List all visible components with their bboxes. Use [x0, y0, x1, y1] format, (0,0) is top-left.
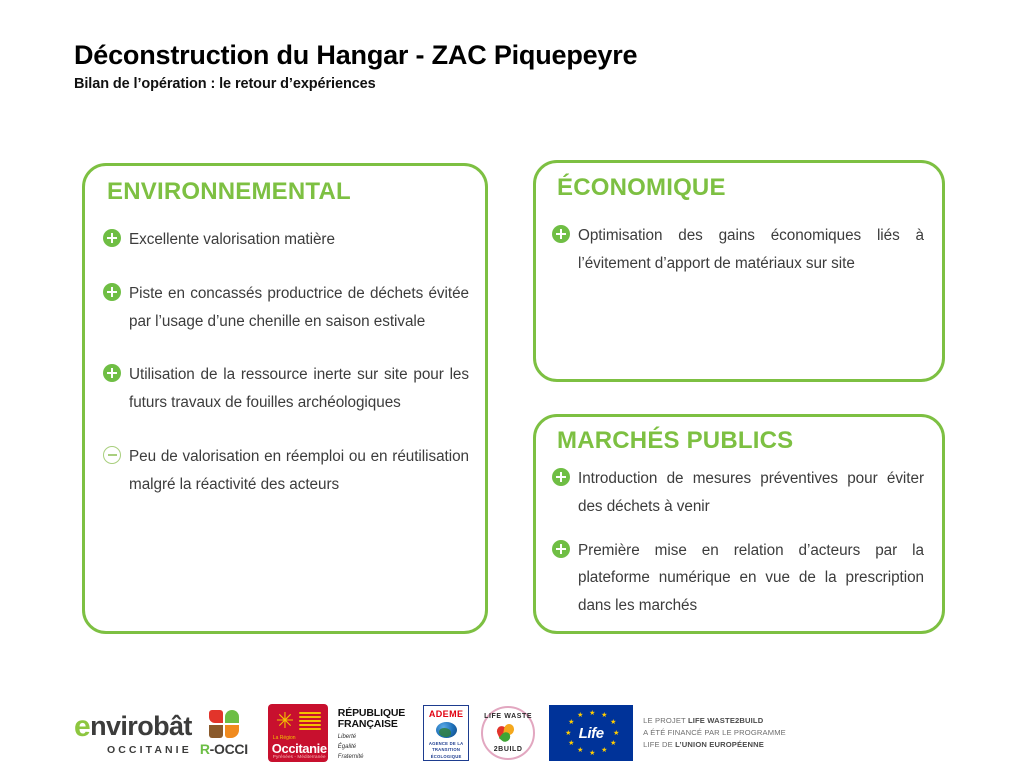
rf-motto-fraternite: Fraternité	[338, 753, 405, 761]
envirobat-region-label: OCCITANIE	[74, 744, 192, 756]
rf-motto-liberte: Liberté	[338, 733, 405, 741]
eu-star-icon: ★	[613, 730, 619, 737]
r-occi-logo: R-OCCI	[200, 707, 248, 759]
list-item: Optimisation des gains économiques liés …	[536, 222, 942, 278]
eu-star-icon: ★	[610, 719, 616, 726]
r-occi-suffix: -OCCI	[210, 741, 248, 757]
ademe-wordmark: ADEME	[429, 709, 464, 719]
eu-funding-line2: A ÉTÉ FINANCÉ PAR LE PROGRAMME	[643, 727, 786, 739]
list-item: Utilisation de la ressource inerte sur s…	[85, 361, 485, 417]
list-item-text: Première mise en relation d’acteurs par …	[578, 537, 924, 620]
list-item-text: Piste en concassés productrice de déchet…	[129, 280, 469, 336]
waste2build-leaves-icon	[497, 724, 519, 742]
eu-star-icon: ★	[568, 740, 574, 747]
rocci-square-green	[225, 710, 239, 723]
plus-circle-icon	[103, 229, 121, 247]
eu-funding-line1: LE PROJET LIFE WASTE2BUILD	[643, 715, 786, 727]
rocci-square-orange	[225, 725, 239, 738]
bullet-list-environnemental: Excellente valorisation matière Piste en…	[85, 226, 485, 499]
waste2build-top-text: LIFE WASTE	[483, 713, 533, 720]
eu-star-icon: ★	[577, 712, 583, 719]
card-economique: ÉCONOMIQUE Optimisation des gains économ…	[533, 160, 945, 382]
page-title: Déconstruction du Hangar - ZAC Piquepeyr…	[74, 40, 954, 70]
life-wordmark: Life	[579, 725, 604, 742]
list-item: Première mise en relation d’acteurs par …	[536, 537, 942, 620]
list-item-text: Optimisation des gains économiques liés …	[578, 222, 924, 278]
occitanie-lines-icon	[299, 712, 321, 734]
bullet-list-economique: Optimisation des gains économiques liés …	[536, 222, 942, 278]
list-item-text: Excellente valorisation matière	[129, 226, 469, 254]
footer-logo-bar: e nvirobât OCCITANIE R-OCCI ✳ La Région …	[74, 702, 954, 764]
plus-circle-icon	[552, 225, 570, 243]
eu-star-icon: ★	[565, 730, 571, 737]
rocci-square-red	[209, 710, 223, 723]
life-waste2build-badge-logo: LIFE WASTE 2BUILD	[481, 706, 535, 760]
envirobat-wordmark: e nvirobât	[74, 711, 192, 741]
bullet-list-marches-publics: Introduction de mesures préventives pour…	[536, 465, 942, 620]
r-occi-mark-icon	[209, 710, 239, 738]
minus-circle-icon	[103, 446, 121, 464]
eu-star-icon: ★	[601, 712, 607, 719]
eu-star-icon: ★	[610, 740, 616, 747]
eu-funding-line3: LIFE DE L’UNION EUROPÉENNE	[643, 739, 786, 751]
list-item-text: Peu de valorisation en réemploi ou en ré…	[129, 443, 469, 499]
card-environnemental: ENVIRONNEMENTAL Excellente valorisation …	[82, 163, 488, 634]
page-subtitle: Bilan de l’opération : le retour d’expér…	[74, 76, 954, 92]
occitanie-subtitle: Pyrénées - Méditerranée	[273, 754, 326, 759]
ademe-logo: ADEME AGENCE DE LA TRANSITION ÉCOLOGIQUE	[423, 705, 469, 761]
rf-title-line2: FRANÇAISE	[338, 719, 405, 731]
card-title-economique: ÉCONOMIQUE	[557, 176, 942, 200]
card-marches-publics: MARCHÉS PUBLICS Introduction de mesures …	[533, 414, 945, 634]
eu-funding-statement: LE PROJET LIFE WASTE2BUILD A ÉTÉ FINANCÉ…	[643, 715, 786, 752]
list-item-text: Introduction de mesures préventives pour…	[578, 465, 924, 521]
eu-star-icon: ★	[589, 710, 595, 717]
envirobat-e-letter: e	[74, 712, 90, 742]
eu-star-icon: ★	[589, 750, 595, 757]
card-title-marches-publics: MARCHÉS PUBLICS	[557, 429, 942, 453]
envirobat-occitanie-logo: e nvirobât OCCITANIE	[74, 707, 192, 759]
waste2build-bottom-text: 2BUILD	[483, 746, 533, 753]
republique-francaise-logo: RÉPUBLIQUE FRANÇAISE Liberté Égalité Fra…	[338, 705, 405, 761]
slide-header: Déconstruction du Hangar - ZAC Piquepeyr…	[74, 40, 954, 92]
list-item: Peu de valorisation en réemploi ou en ré…	[85, 443, 485, 499]
envirobat-name: nvirobât	[90, 713, 192, 740]
ademe-subtitle: AGENCE DE LA TRANSITION ÉCOLOGIQUE	[424, 741, 468, 760]
card-title-environnemental: ENVIRONNEMENTAL	[107, 180, 485, 204]
region-occitanie-logo: ✳ La Région Occitanie Pyrénées - Méditer…	[268, 704, 328, 762]
plus-circle-icon	[103, 283, 121, 301]
rocci-square-brown	[209, 725, 223, 738]
list-item: Piste en concassés productrice de déchet…	[85, 280, 485, 336]
r-occi-wordmark: R-OCCI	[200, 741, 248, 757]
plus-circle-icon	[552, 468, 570, 486]
list-item-text: Utilisation de la ressource inerte sur s…	[129, 361, 469, 417]
list-item: Excellente valorisation matière	[85, 226, 485, 254]
eu-star-icon: ★	[601, 747, 607, 754]
plus-circle-icon	[552, 540, 570, 558]
globe-icon	[436, 722, 457, 738]
eu-life-flag-logo: ★ ★ ★ ★ ★ ★ ★ ★ ★ ★ ★ ★ Life	[549, 705, 633, 761]
occitan-cross-icon: ✳	[276, 710, 294, 732]
eu-star-icon: ★	[577, 747, 583, 754]
plus-circle-icon	[103, 364, 121, 382]
list-item: Introduction de mesures préventives pour…	[536, 465, 942, 521]
eu-star-icon: ★	[568, 719, 574, 726]
r-occi-prefix: R	[200, 741, 210, 757]
rf-motto-egalite: Égalité	[338, 743, 405, 751]
